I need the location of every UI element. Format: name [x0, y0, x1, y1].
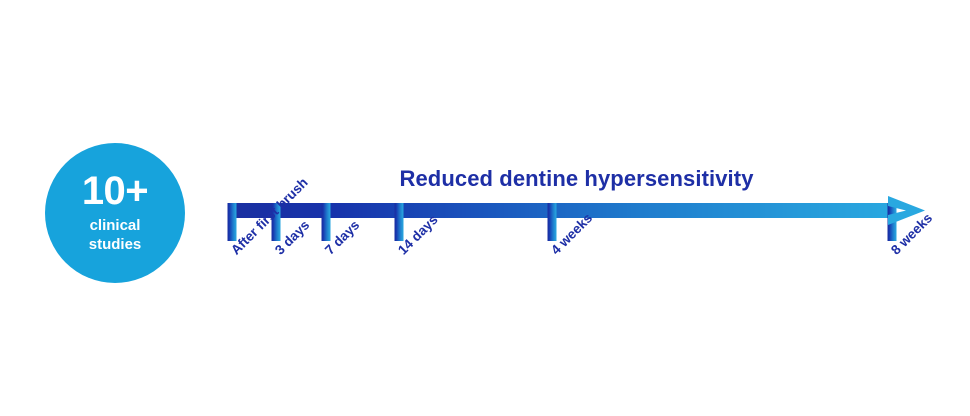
timeline-tick	[228, 203, 237, 241]
timeline-tick	[548, 203, 557, 241]
dentine-hypersensitivity-timeline-infographic: 10+ clinical studies Reduced dentine hyp…	[0, 0, 970, 416]
timeline-tick	[322, 203, 331, 241]
timeline-tick	[395, 203, 404, 241]
timeline-axis-graphic	[0, 0, 970, 416]
